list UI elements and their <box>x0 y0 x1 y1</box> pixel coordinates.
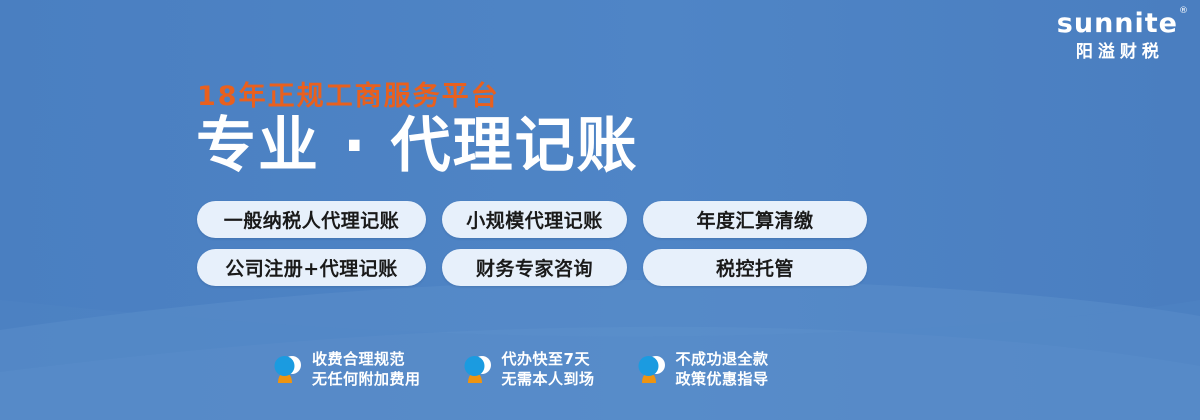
hero-headline: 专业 · 代理记账 <box>196 113 639 179</box>
brand-logo[interactable]: sunnite ® 阳溢财税 <box>1057 10 1178 61</box>
registered-trademark-icon: ® <box>1179 7 1189 16</box>
service-pill-row-1: 一般纳税人代理记账 小规模代理记账 年度汇算清缴 <box>197 201 867 238</box>
promo-banner: sunnite ® 阳溢财税 18年正规工商服务平台 专业 · 代理记账 一般纳… <box>0 0 1200 420</box>
service-pill-small-scale[interactable]: 小规模代理记账 <box>442 201 627 238</box>
service-pill-annual-settlement[interactable]: 年度汇算清缴 <box>643 201 867 238</box>
feature-item-speed: 代办快至7天 无需本人到场 <box>462 349 595 389</box>
service-pill-tax-control-hosting[interactable]: 税控托管 <box>643 249 867 286</box>
service-pill-row-2: 公司注册+代理记账 财务专家咨询 税控托管 <box>197 249 867 286</box>
service-pill-expert-consulting[interactable]: 财务专家咨询 <box>442 249 627 286</box>
feature-list: 收费合理规范 无任何附加费用 代办快至7天 无需本人到场 <box>272 349 769 389</box>
feature-line1-pricing: 收费合理规范 <box>312 349 421 369</box>
logo-wordmark-text: sunnite <box>1057 8 1178 39</box>
feature-line2-speed: 无需本人到场 <box>502 369 595 389</box>
service-pill-company-registration[interactable]: 公司注册+代理记账 <box>197 249 426 286</box>
feature-line2-guarantee: 政策优惠指导 <box>676 369 769 389</box>
logo-wordmark: sunnite ® <box>1057 10 1178 37</box>
feature-line1-guarantee: 不成功退全款 <box>676 349 769 369</box>
feature-text-pricing: 收费合理规范 无任何附加费用 <box>312 349 421 389</box>
feature-line2-pricing: 无任何附加费用 <box>312 369 421 389</box>
feature-text-speed: 代办快至7天 无需本人到场 <box>502 349 595 389</box>
feature-item-guarantee: 不成功退全款 政策优惠指导 <box>636 349 769 389</box>
logo-chinese-name: 阳溢财税 <box>1057 44 1178 61</box>
feature-item-pricing: 收费合理规范 无任何附加费用 <box>272 349 421 389</box>
feature-line1-speed: 代办快至7天 <box>502 349 595 369</box>
service-pill-group: 一般纳税人代理记账 小规模代理记账 年度汇算清缴 公司注册+代理记账 财务专家咨… <box>197 201 867 297</box>
blue-orange-dot-icon <box>636 352 666 386</box>
hero-kicker: 18年正规工商服务平台 <box>197 74 500 113</box>
blue-orange-dot-icon <box>462 352 492 386</box>
feature-text-guarantee: 不成功退全款 政策优惠指导 <box>676 349 769 389</box>
blue-orange-dot-icon <box>272 352 302 386</box>
service-pill-general-taxpayer[interactable]: 一般纳税人代理记账 <box>197 201 426 238</box>
